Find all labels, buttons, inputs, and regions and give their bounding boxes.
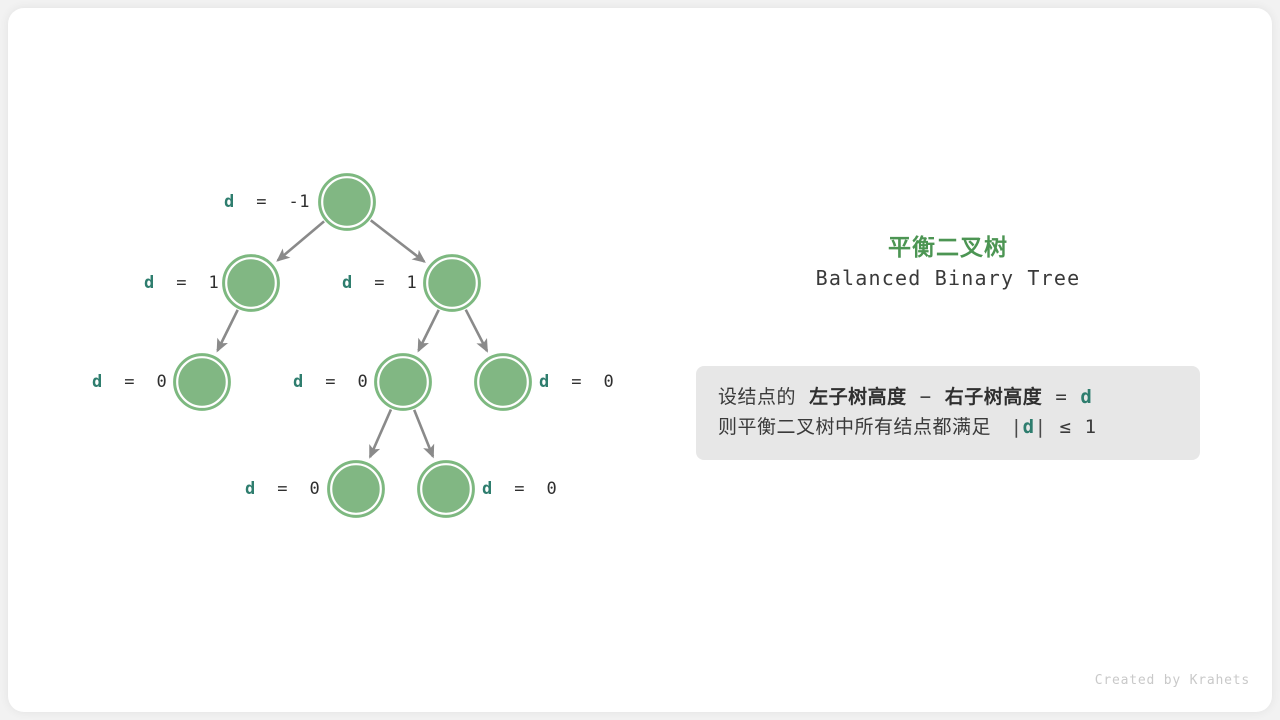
node-label-variable: d	[144, 273, 155, 293]
tree-edge	[371, 220, 425, 261]
node-balance-label: d = 0	[539, 374, 614, 391]
definition-prefix-2: 则平衡二叉树中所有结点都满足	[718, 416, 991, 438]
tree-node-body	[179, 359, 225, 405]
definition-line-1: 设结点的 左子树高度 − 右子树高度 = d	[718, 382, 1178, 412]
node-label-value: 0	[546, 479, 557, 499]
node-label-value: 0	[357, 372, 368, 392]
node-label-equals: =	[514, 479, 525, 499]
node-label-value: 0	[603, 372, 614, 392]
node-label-equals: =	[176, 273, 187, 293]
tree-node-body	[380, 359, 426, 405]
node-label-value: 0	[156, 372, 167, 392]
node-label-value: 0	[309, 479, 320, 499]
tree-edge	[414, 410, 433, 457]
tree-node-body	[333, 466, 379, 512]
node-label-variable: d	[245, 479, 256, 499]
screenshot-root: d = -1d = 1d = 1d = 0d = 0d = 0d = 0d = …	[0, 0, 1280, 720]
node-balance-label: d = -1	[224, 194, 310, 211]
tree-node-body	[429, 260, 475, 306]
tree-svg	[0, 0, 680, 720]
page-title-en: Balanced Binary Tree	[680, 266, 1216, 290]
tree-edge	[419, 310, 439, 351]
node-balance-label: d = 1	[342, 275, 417, 292]
node-balance-label: d = 0	[482, 481, 557, 498]
node-balance-label: d = 1	[144, 275, 219, 292]
tree-node	[328, 461, 384, 517]
node-label-variable: d	[342, 273, 353, 293]
definition-prefix-1: 设结点的	[718, 386, 796, 408]
node-label-equals: =	[124, 372, 135, 392]
less-equal-operator: ≤	[1060, 416, 1072, 438]
minus-operator: −	[920, 386, 932, 408]
node-label-variable: d	[224, 192, 235, 212]
node-label-equals: =	[277, 479, 288, 499]
tree-node-body	[324, 179, 370, 225]
tree-node	[418, 461, 474, 517]
tree-edge	[218, 310, 238, 351]
definition-line-2: 则平衡二叉树中所有结点都满足 |d| ≤ 1	[718, 412, 1178, 442]
abs-bar-open: |	[1011, 416, 1023, 438]
definition-box: 设结点的 左子树高度 − 右子树高度 = d 则平衡二叉树中所有结点都满足 |d…	[696, 366, 1200, 460]
node-label-value: 1	[406, 273, 417, 293]
tree-node	[223, 255, 279, 311]
node-label-value: 1	[208, 273, 219, 293]
bound-value: 1	[1085, 416, 1097, 438]
tree-edge	[278, 221, 324, 260]
tree-node-body	[423, 466, 469, 512]
tree-edge	[466, 310, 487, 351]
term-right-subtree-height: 右子树高度	[945, 386, 1043, 408]
tree-edge	[370, 409, 391, 456]
tree-node	[375, 354, 431, 410]
node-label-variable: d	[92, 372, 103, 392]
node-label-variable: d	[482, 479, 493, 499]
node-balance-label: d = 0	[92, 374, 167, 391]
variable-d-2: d	[1023, 416, 1035, 438]
node-label-variable: d	[293, 372, 304, 392]
tree-node	[174, 354, 230, 410]
tree-node	[475, 354, 531, 410]
abs-bar-close: |	[1035, 416, 1047, 438]
tree-node	[319, 174, 375, 230]
info-panel: 平衡二叉树 Balanced Binary Tree 设结点的 左子树高度 − …	[680, 0, 1280, 720]
variable-d-1: d	[1080, 386, 1092, 408]
node-label-equals: =	[256, 192, 267, 212]
node-label-equals: =	[374, 273, 385, 293]
node-label-value: -1	[288, 192, 309, 212]
tree-node-body	[228, 260, 274, 306]
credit-text: Created by Krahets	[1095, 673, 1250, 688]
tree-nodes	[174, 174, 531, 517]
node-label-equals: =	[571, 372, 582, 392]
tree-node-body	[480, 359, 526, 405]
node-label-variable: d	[539, 372, 550, 392]
binary-tree-diagram: d = -1d = 1d = 1d = 0d = 0d = 0d = 0d = …	[0, 0, 680, 720]
page-title-cn: 平衡二叉树	[680, 228, 1216, 262]
node-label-equals: =	[325, 372, 336, 392]
term-left-subtree-height: 左子树高度	[809, 386, 907, 408]
equals-operator: =	[1055, 386, 1067, 408]
tree-node	[424, 255, 480, 311]
node-balance-label: d = 0	[245, 481, 320, 498]
node-balance-label: d = 0	[293, 374, 368, 391]
